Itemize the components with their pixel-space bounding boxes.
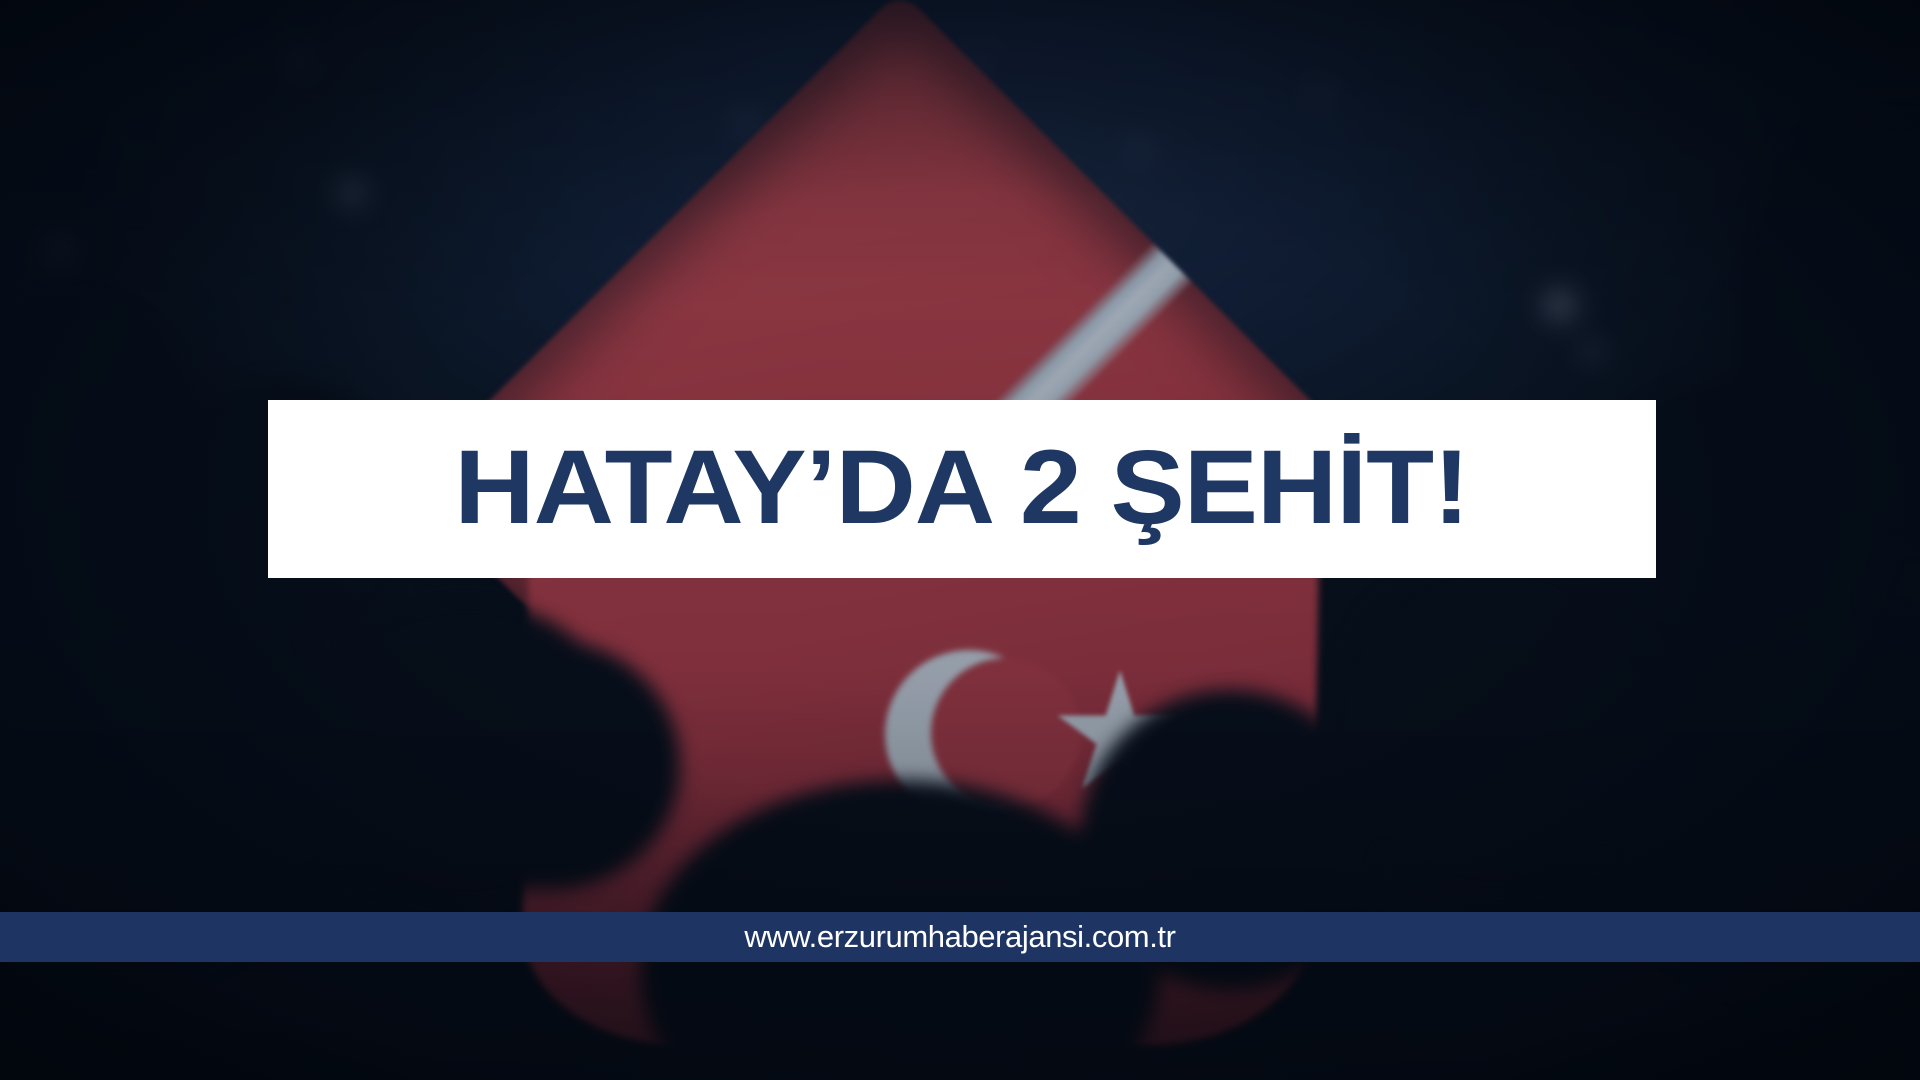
headline-banner: HATAY’DA 2 ŞEHİT! bbox=[268, 400, 1656, 578]
news-graphic-stage: HATAY’DA 2 ŞEHİT! www.erzurumhaberajansi… bbox=[0, 0, 1920, 1080]
page-title: HATAY’DA 2 ŞEHİT! bbox=[455, 435, 1470, 544]
footer-url-bar: www.erzurumhaberajansi.com.tr bbox=[0, 912, 1920, 962]
website-url: www.erzurumhaberajansi.com.tr bbox=[744, 919, 1175, 955]
